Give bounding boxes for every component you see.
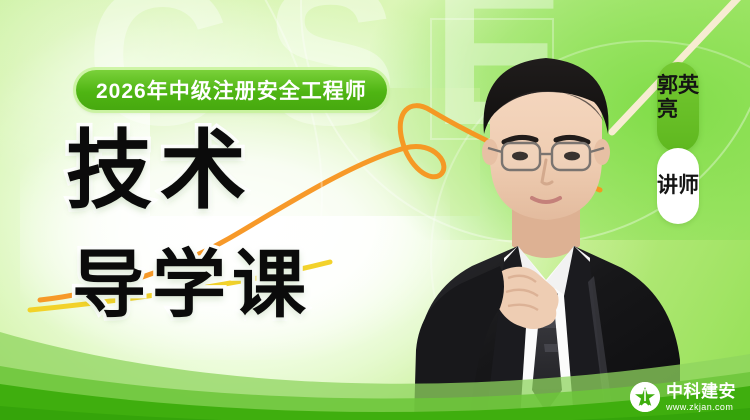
- course-badge-label: 2026年中级注册安全工程师: [96, 75, 367, 105]
- brand-mark-icon: [630, 382, 660, 412]
- page-title: 技术: [66, 128, 254, 214]
- brand-text: 中科建安 www.zkjan.com: [666, 383, 736, 412]
- brand-logo[interactable]: 中科建安 www.zkjan.com: [630, 382, 736, 412]
- course-poster: CSE: [0, 0, 750, 420]
- course-badge: 2026年中级注册安全工程师: [76, 70, 387, 110]
- instructor-name-plate: 郭英亮: [657, 62, 699, 152]
- instructor-role: 讲师: [657, 148, 699, 224]
- brand-url: www.zkjan.com: [666, 403, 736, 412]
- brand-name: 中科建安: [666, 383, 736, 400]
- instructor-name: 郭英亮: [657, 74, 699, 122]
- page-subtitle: 导学课: [72, 248, 312, 322]
